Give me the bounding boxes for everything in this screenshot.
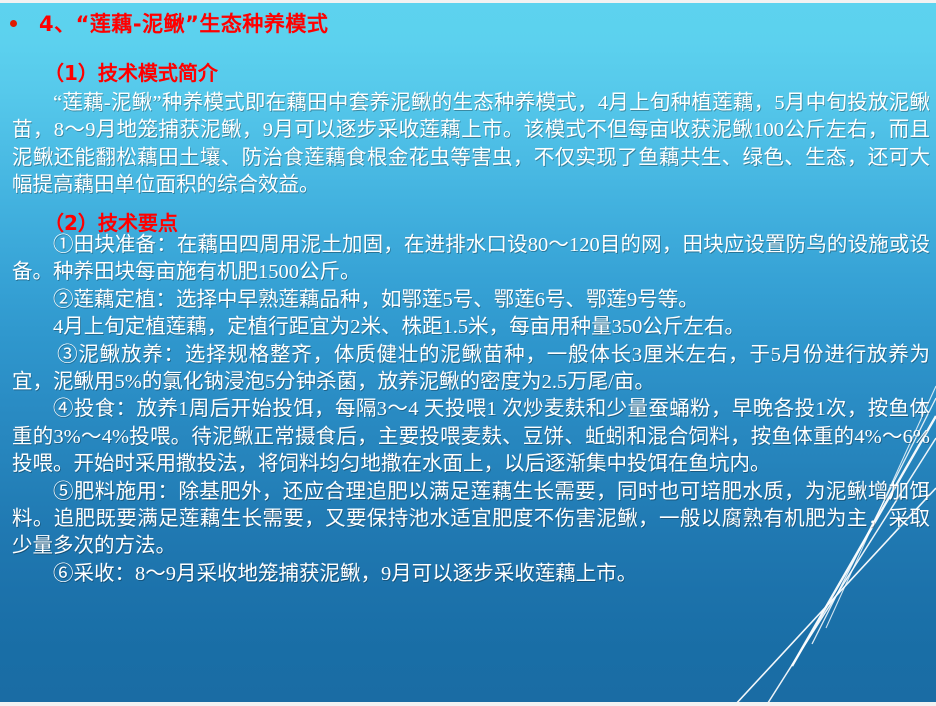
section-heading-1: （1）技术模式简介 bbox=[44, 57, 218, 86]
section-1-body: “莲藕-泥鳅”种养模式即在藕田中套养泥鳅的生态种养模式，4月上旬种植莲藕，5月中… bbox=[12, 90, 930, 200]
paragraph-item-2: ②莲藕定植：选择中早熟莲藕品种，如鄂莲5号、鄂莲6号、鄂莲9号等。 bbox=[12, 287, 930, 314]
paragraph-item-7: ⑥采收：8～9月采收地笼捕获泥鳅，9月可以逐步采收莲藕上市。 bbox=[12, 561, 930, 588]
paragraph-item-5: ④投食：放养1周后开始投饵，每隔3～4 天投喂1 次炒麦麸和少量蚕蛹粉，早晚各投… bbox=[12, 396, 930, 478]
page-title: 4、“莲藕-泥鳅”生态种养模式 bbox=[39, 8, 328, 38]
paragraph-item-1: ①田块准备：在藕田四周用泥土加固，在进排水口设80～120目的网，田块应设置防鸟… bbox=[12, 232, 930, 287]
section-heading-2: （2）技术要点 bbox=[44, 207, 178, 236]
bullet-dot-icon bbox=[10, 20, 17, 27]
paragraph-item-4: ③泥鳅放养：选择规格整齐，体质健壮的泥鳅苗种，一般体长3厘米左右，于5月份进行放… bbox=[12, 342, 930, 397]
slide-canvas: 4、“莲藕-泥鳅”生态种养模式 （1）技术模式简介 “莲藕-泥鳅”种养模式即在藕… bbox=[0, 0, 936, 706]
slide-title-row: 4、“莲藕-泥鳅”生态种养模式 bbox=[10, 8, 328, 38]
paragraph-item-3: 4月上旬定植莲藕，定植行距宜为2米、株距1.5米，每亩用种量350公斤左右。 bbox=[12, 314, 930, 341]
paragraph: “莲藕-泥鳅”种养模式即在藕田中套养泥鳅的生态种养模式，4月上旬种植莲藕，5月中… bbox=[12, 90, 930, 200]
paragraph-item-6: ⑤肥料施用：除基肥外，还应合理追肥以满足莲藕生长需要，同时也可培肥水质，为泥鳅增… bbox=[12, 479, 930, 561]
section-2-body: ①田块准备：在藕田四周用泥土加固，在进排水口设80～120目的网，田块应设置防鸟… bbox=[12, 232, 930, 588]
